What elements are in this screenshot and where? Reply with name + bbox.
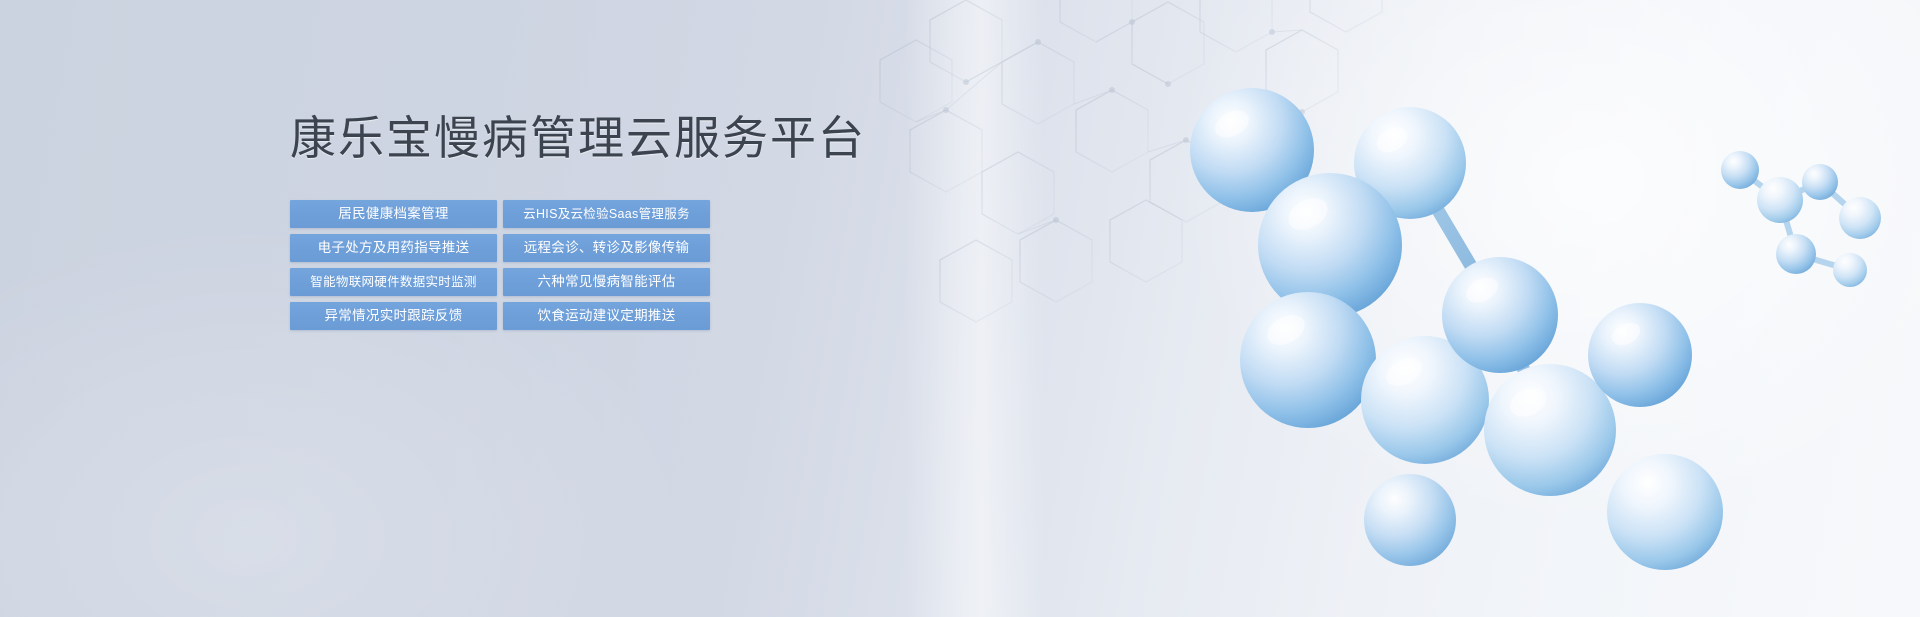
page-title: 康乐宝慢病管理云服务平台	[290, 108, 930, 168]
feature-grid: 居民健康档案管理 云HIS及云检验Saas管理服务 电子处方及用药指导推送 远程…	[290, 200, 710, 330]
molecule-cluster-small-graphic	[1700, 130, 1920, 350]
molecule-spheres-graphic	[1080, 0, 1920, 617]
hexagon-network-graphic	[870, 0, 1690, 500]
feature-button-remote-consultation-referral-imaging[interactable]: 远程会诊、转诊及影像传输	[503, 234, 710, 262]
banner-content: 康乐宝慢病管理云服务平台 居民健康档案管理 云HIS及云检验Saas管理服务 电…	[290, 108, 930, 330]
hero-banner: 康乐宝慢病管理云服务平台 居民健康档案管理 云HIS及云检验Saas管理服务 电…	[0, 0, 1920, 617]
feature-button-abnormal-realtime-tracking-feedback[interactable]: 异常情况实时跟踪反馈	[290, 302, 497, 330]
feature-button-diet-exercise-advice-push[interactable]: 饮食运动建议定期推送	[503, 302, 710, 330]
feature-button-iot-hardware-realtime-monitoring[interactable]: 智能物联网硬件数据实时监测	[290, 268, 497, 296]
feature-button-cloud-his-lab-saas[interactable]: 云HIS及云检验Saas管理服务	[503, 200, 710, 228]
feature-button-six-chronic-disease-assessment[interactable]: 六种常见慢病智能评估	[503, 268, 710, 296]
top-right-glow	[1140, 0, 1920, 560]
feature-button-e-prescription-medication-guidance[interactable]: 电子处方及用药指导推送	[290, 234, 497, 262]
feature-button-resident-health-records[interactable]: 居民健康档案管理	[290, 200, 497, 228]
